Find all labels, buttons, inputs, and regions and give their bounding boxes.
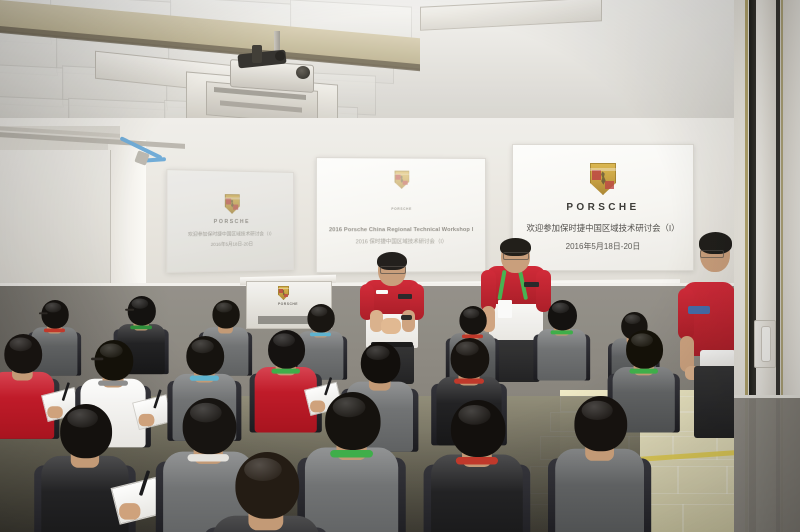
porsche-crest-icon [394, 171, 409, 189]
audience-hair-highlight [244, 458, 282, 481]
audience-hair-highlight [333, 397, 366, 417]
audience-hand [47, 406, 62, 418]
porsche-crest-icon [278, 286, 289, 300]
screen-english-title: 2016 Porsche China Regional Technical Wo… [329, 227, 473, 233]
screen-chinese-title: 欢迎参加保时捷中国区域技术研讨会（I） [526, 222, 679, 234]
lanyard [310, 333, 331, 337]
lanyard [454, 378, 484, 383]
lanyard [98, 380, 128, 385]
projector-knob [275, 51, 285, 61]
audience-hair-highlight [625, 314, 641, 324]
audience-hair-highlight [456, 342, 479, 356]
classroom-photo: PORSCHE 欢迎参加保时捷中国区域技术研讨会（I） 2016年5月18日-2… [0, 0, 800, 532]
door-hinge-pin [761, 326, 771, 362]
audience-hair-highlight [273, 333, 295, 346]
presenter-glasses [380, 266, 406, 274]
presenter-wristwatch [401, 315, 412, 320]
audience-hair-highlight [191, 339, 213, 353]
jamb-dado [734, 398, 800, 532]
lanyard [190, 376, 219, 381]
porsche-wordmark: PORSCHE [566, 202, 639, 213]
audience-hair-highlight [190, 403, 222, 423]
badge [498, 300, 512, 318]
staff-trousers [694, 366, 738, 438]
lectern-wordmark: PORSCHE [258, 302, 318, 306]
audience-hair-highlight [463, 308, 479, 318]
audience-hand [310, 401, 325, 413]
left-projection-screen: PORSCHE 欢迎参加保时捷中国区域技术研讨会（I） 2016年5月18日-2… [166, 169, 294, 273]
audience-hair-highlight [45, 302, 61, 312]
porsche-wordmark: PORSCHE [391, 207, 412, 211]
polo-logo-tab [524, 282, 539, 287]
lanyard [629, 369, 658, 374]
audience-glasses-arm [125, 309, 134, 311]
porsche-crest-icon [590, 163, 616, 195]
right-projection-screen: PORSCHE 欢迎参加保时捷中国区域技术研讨会（I） 2016年5月18日-2… [512, 144, 694, 271]
presenter2-glasses [503, 252, 529, 260]
audience-hair-highlight [9, 337, 31, 351]
audience-hair-highlight [552, 303, 569, 314]
audience-hand [119, 503, 140, 520]
audience-glasses-arm [39, 312, 48, 314]
staff-glasses [700, 250, 724, 258]
audience-hair-highlight [216, 302, 232, 312]
staff-polo-logo [688, 306, 710, 314]
floor-tile [682, 504, 738, 532]
audience-hair-highlight [67, 409, 98, 428]
lanyard [551, 330, 573, 334]
audience-hair-highlight [631, 333, 653, 346]
polo-collar-stripe [376, 290, 388, 294]
audience-hair-highlight [582, 401, 613, 420]
staff-arm [678, 288, 694, 340]
projector-lens [296, 66, 310, 79]
audience-hair-highlight [100, 344, 123, 358]
presenter2-arm-right [536, 270, 551, 312]
lanyard [271, 369, 300, 374]
polo-logo-tab [398, 294, 412, 299]
audience-glasses-arm [91, 358, 103, 361]
lanyard [130, 325, 152, 329]
lanyard [330, 450, 373, 458]
lanyard [456, 457, 498, 464]
screen-date-line: 2016年5月18日-20日 [566, 241, 641, 252]
floor-tile [677, 466, 728, 494]
projector-bracket-arm [252, 45, 262, 63]
screen-chinese-title: 2016 保时捷中国区域技术研讨会（I） [356, 237, 448, 245]
audience-hand [139, 414, 155, 426]
presenter-forearm-right [402, 310, 415, 332]
presenter-clasped-hands [381, 318, 401, 334]
roller-blind[interactable] [0, 150, 111, 300]
audience-hair-highlight [366, 346, 389, 360]
lanyard [44, 329, 65, 333]
audience-hair-highlight [458, 405, 490, 425]
audience-hair-highlight [311, 306, 327, 316]
lanyard [188, 454, 229, 461]
audience-hair-highlight [132, 299, 149, 309]
